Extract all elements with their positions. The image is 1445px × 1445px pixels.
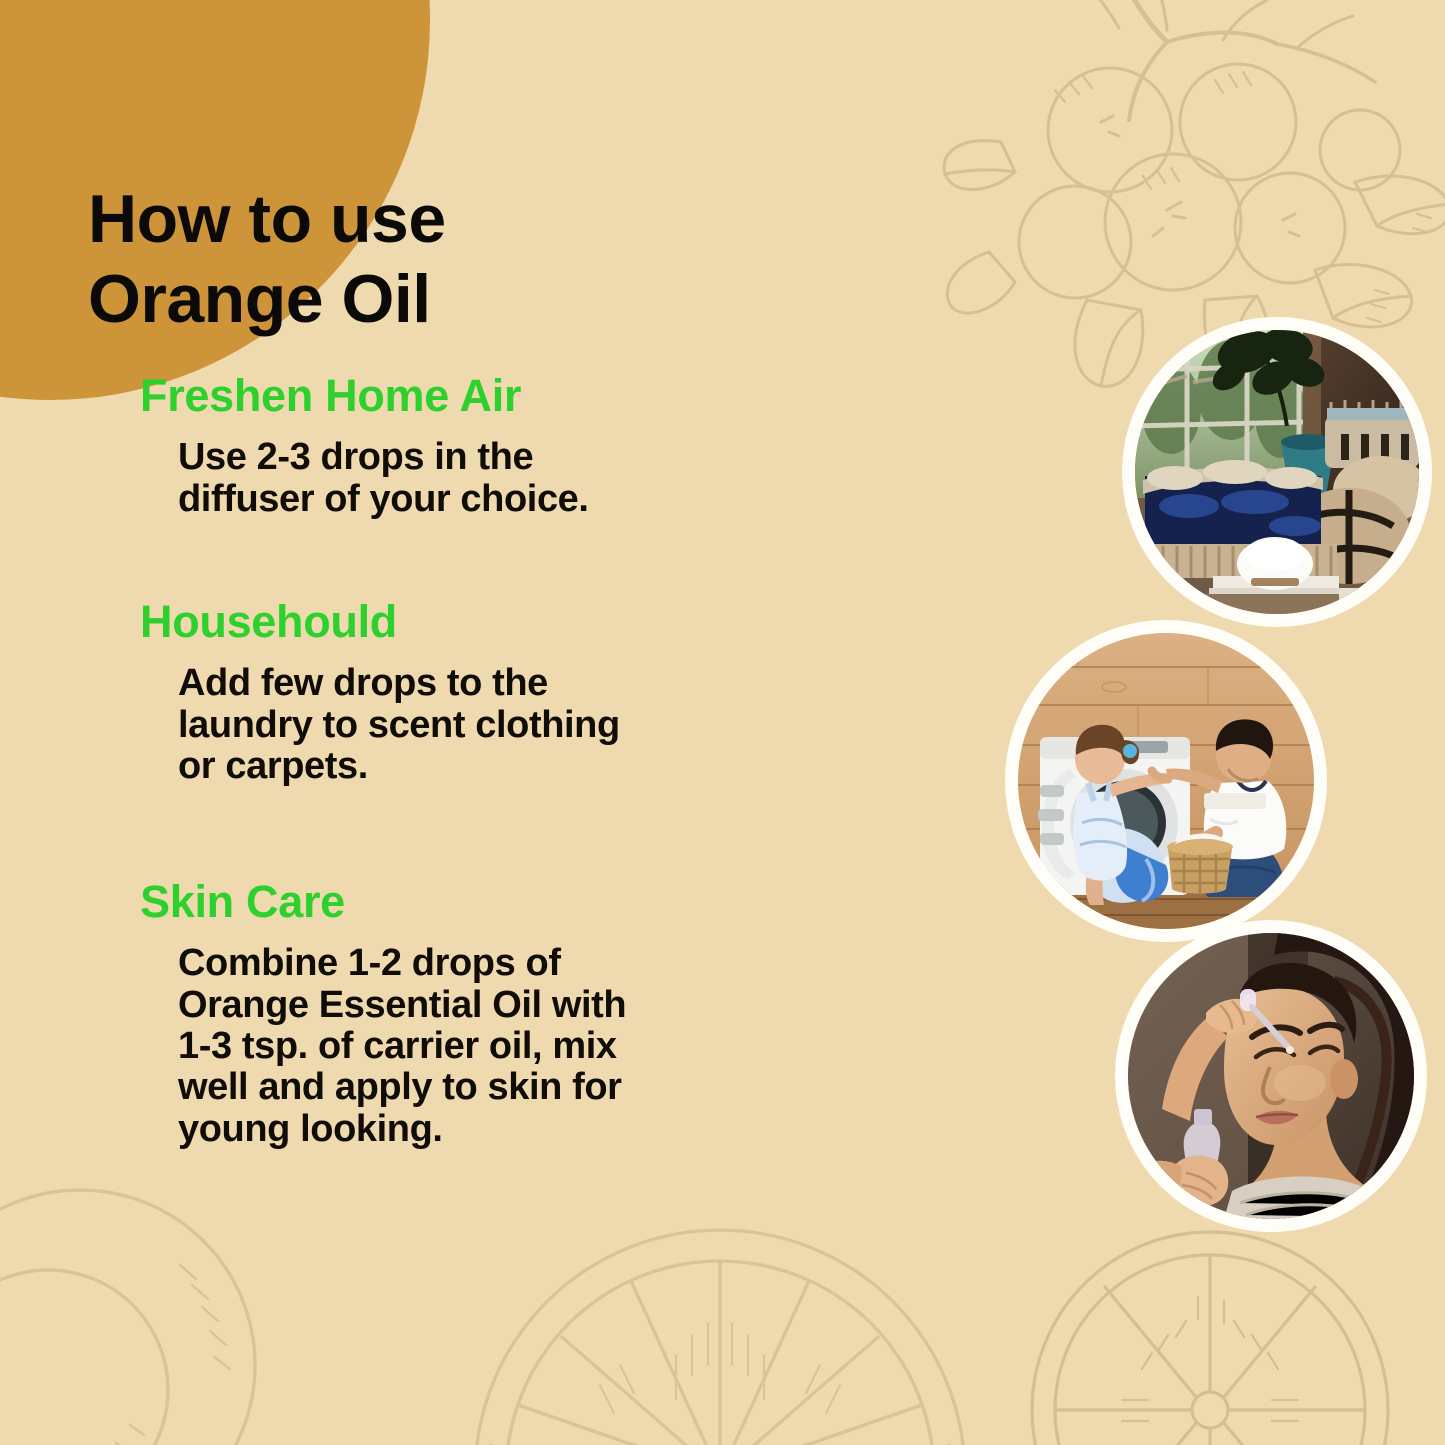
photo-skin-care xyxy=(1115,920,1427,1232)
section-skin-care: Skin Care Combine 1-2 drops of Orange Es… xyxy=(140,878,820,1150)
orange-slice-watermark xyxy=(1010,1225,1430,1445)
photo-image xyxy=(1018,633,1314,929)
section-body: Use 2-3 drops in the diffuser of your ch… xyxy=(178,437,778,520)
infographic-canvas: How to use Orange Oil Freshen Home Air U… xyxy=(0,0,1445,1445)
photo-image xyxy=(1128,933,1414,1219)
photo-household-laundry xyxy=(1005,620,1327,942)
section-body: Add few drops to the laundry to scent cl… xyxy=(178,663,778,787)
photo-image xyxy=(1135,330,1419,614)
section-heading: Freshen Home Air xyxy=(140,372,820,419)
section-heading: Skin Care xyxy=(140,878,820,925)
section-household: Househould Add few drops to the laundry … xyxy=(140,598,820,787)
section-body: Combine 1-2 drops of Orange Essential Oi… xyxy=(178,943,778,1150)
photo-freshen-home-air xyxy=(1122,317,1432,627)
page-title: How to use Orange Oil xyxy=(88,179,708,339)
section-heading: Househould xyxy=(140,598,820,645)
orange-branch-watermark xyxy=(905,0,1445,400)
section-freshen-home-air: Freshen Home Air Use 2-3 drops in the di… xyxy=(140,372,820,520)
